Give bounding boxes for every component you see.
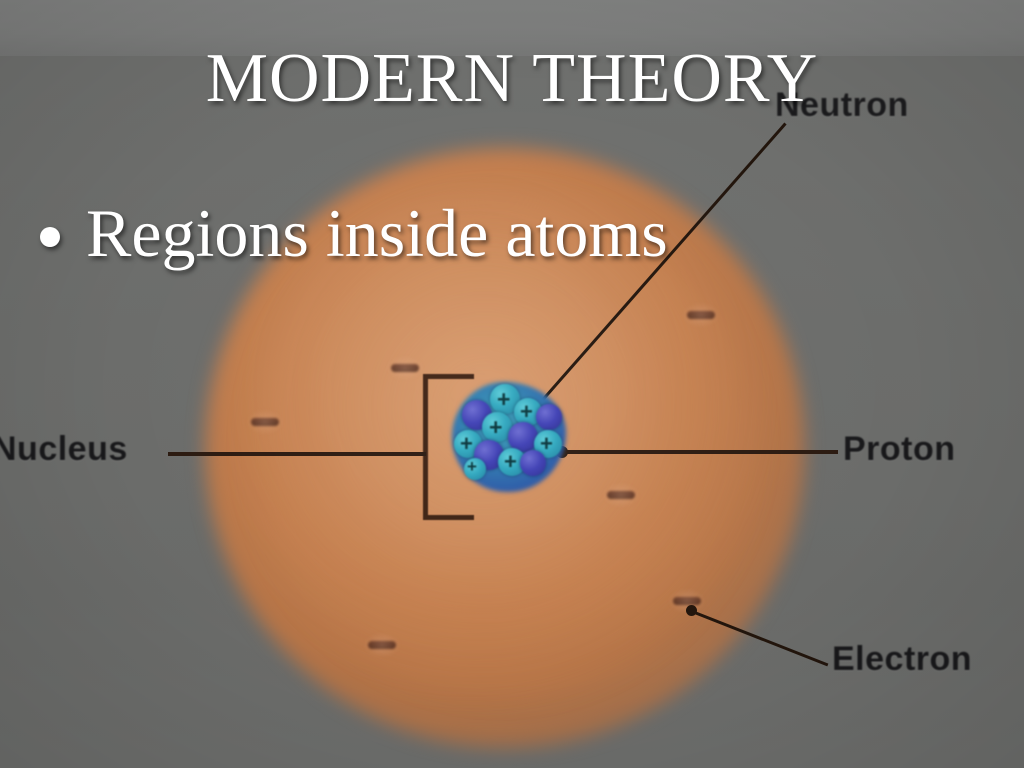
electron-marker xyxy=(673,597,701,605)
bullet-list-item: Regions inside atoms xyxy=(40,198,984,269)
label-electron: Electron xyxy=(832,640,972,679)
leader-line-nucleus xyxy=(168,452,426,456)
leader-line-proton xyxy=(560,450,838,454)
bullet-item-label: Regions inside atoms xyxy=(86,198,668,269)
leader-line-electron-tip xyxy=(686,605,697,616)
electron-marker xyxy=(368,641,396,649)
label-proton: Proton xyxy=(843,430,956,469)
bullet-dot-icon xyxy=(40,227,60,247)
nucleus-proton xyxy=(464,458,486,480)
electron-marker xyxy=(607,491,635,499)
electron-marker xyxy=(251,418,279,426)
page-title: MODERN THEORY xyxy=(0,44,1024,114)
nucleus-neutron xyxy=(520,450,546,476)
electron-marker xyxy=(391,364,419,372)
slide-canvas: Nucleus Proton Electron Neutron MODERN T… xyxy=(0,0,1024,768)
atom-nucleus xyxy=(448,378,570,496)
nucleus-neutron xyxy=(536,404,562,430)
label-nucleus: Nucleus xyxy=(0,430,128,469)
electron-marker xyxy=(687,311,715,319)
